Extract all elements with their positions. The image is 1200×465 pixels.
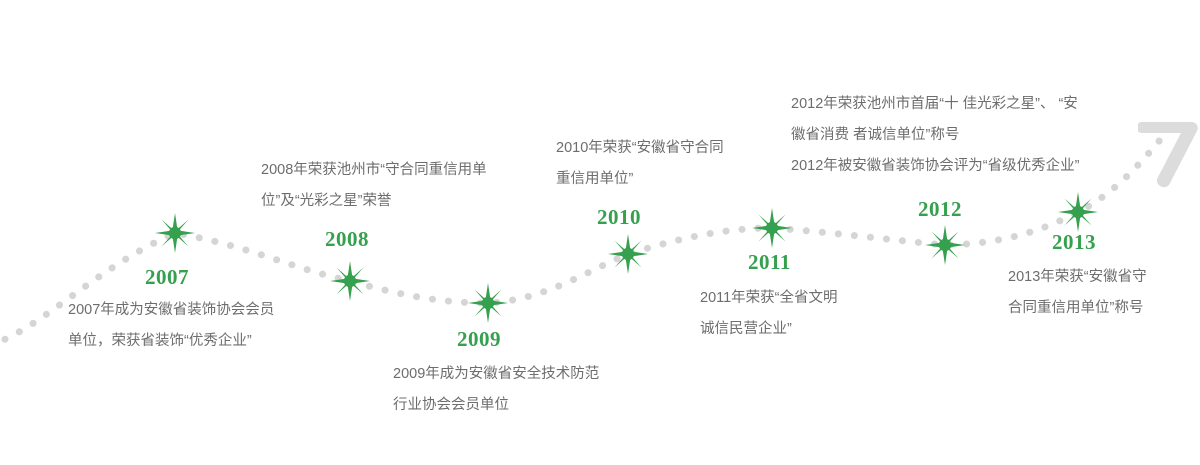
milestone-node-2008[interactable] [328,259,372,303]
star-burst-icon [153,211,197,255]
description-line: 2007年成为安徽省装饰协会会员 [68,295,274,326]
description-line: 2011年荣获“全省文明 [700,283,838,314]
milestone-description-2010: 2010年荣获“安徽省守合同重信用单位” [556,133,724,195]
watermark-seven-icon [1138,110,1200,200]
description-line: 2010年荣获“安徽省守合同 [556,133,724,164]
year-label-2009: 2009 [457,327,501,352]
star-burst-icon [466,281,510,325]
milestone-node-2011[interactable] [750,206,794,250]
description-line: 诚信民营企业” [700,314,838,345]
description-line: 2013年荣获“安徽省守 [1008,262,1147,293]
milestone-node-2010[interactable] [606,232,650,276]
milestone-description-2009: 2009年成为安徽省安全技术防范行业协会会员单位 [393,359,599,421]
description-line: 行业协会会员单位 [393,390,599,421]
description-line: 重信用单位” [556,164,724,195]
description-line: 合同重信用单位”称号 [1008,293,1147,324]
milestone-node-2007[interactable] [153,211,197,255]
description-line: 2008年荣获池州市“守合同重信用单 [261,155,487,186]
milestone-description-2012: 2012年荣获池州市首届“十 佳光彩之星”、 “安徽省消费 者诚信单位”称号20… [791,89,1079,182]
star-burst-icon [750,206,794,250]
milestone-description-2011: 2011年荣获“全省文明诚信民营企业” [700,283,838,345]
milestone-node-2012[interactable] [923,223,967,267]
star-burst-icon [606,232,650,276]
year-label-2007: 2007 [145,265,189,290]
year-label-2008: 2008 [325,227,369,252]
year-label-2011: 2011 [748,250,791,275]
year-label-2013: 2013 [1052,230,1096,255]
description-line: 位”及“光彩之星”荣誉 [261,186,487,217]
description-line: 2012年荣获池州市首届“十 佳光彩之星”、 “安 [791,89,1079,120]
timeline-infographic: 20072007年成为安徽省装饰协会会员单位，荣获省装饰“优秀企业”200820… [0,0,1200,465]
milestone-node-2013[interactable] [1056,190,1100,234]
star-burst-icon [328,259,372,303]
star-burst-icon [1056,190,1100,234]
description-line: 徽省消费 者诚信单位”称号 [791,120,1079,151]
year-label-2010: 2010 [597,205,641,230]
milestone-description-2007: 2007年成为安徽省装饰协会会员单位，荣获省装饰“优秀企业” [68,295,274,357]
milestone-description-2013: 2013年荣获“安徽省守合同重信用单位”称号 [1008,262,1147,324]
milestone-description-2008: 2008年荣获池州市“守合同重信用单位”及“光彩之星”荣誉 [261,155,487,217]
year-label-2012: 2012 [918,197,962,222]
description-line: 2009年成为安徽省安全技术防范 [393,359,599,390]
milestone-node-2009[interactable] [466,281,510,325]
description-line: 单位，荣获省装饰“优秀企业” [68,326,274,357]
description-line: 2012年被安徽省装饰协会评为“省级优秀企业” [791,151,1079,182]
star-burst-icon [923,223,967,267]
